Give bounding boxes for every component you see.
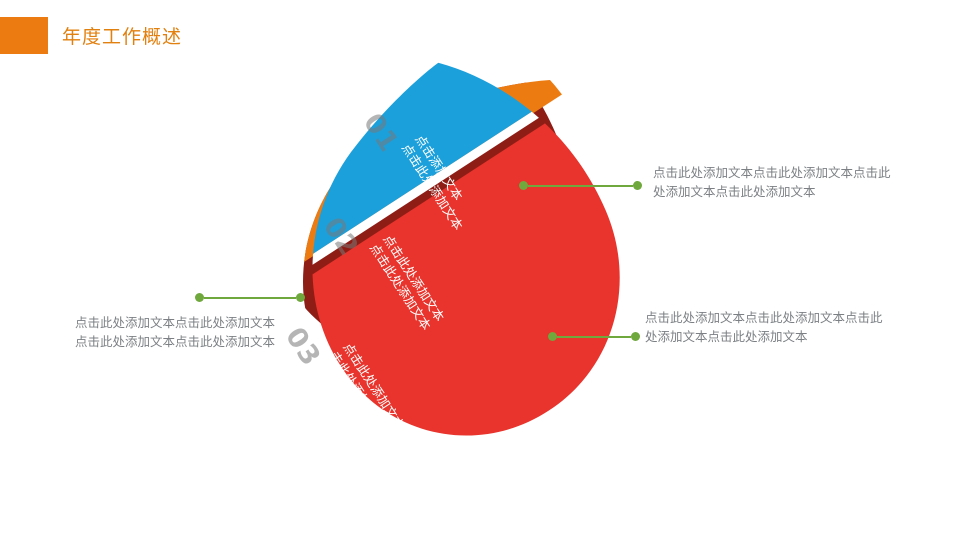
connector-dot-icon (633, 181, 642, 190)
connector-dot-icon (519, 181, 528, 190)
callout-text-left-1: 点击此处添加文本点击此处添加文本点击此处添加文本点击此处添加文本 (75, 313, 280, 351)
callout-text-right-2: 点击此处添加文本点击此处添加文本点击此处添加文本点击此处添加文本 (645, 308, 889, 346)
callout-text-right-1: 点击此处添加文本点击此处添加文本点击此处添加文本点击此处添加文本 (653, 163, 897, 201)
connector-dot-icon (631, 332, 640, 341)
title-accent-swatch (0, 17, 48, 54)
connector-dot-icon (195, 293, 204, 302)
connector-line-01 (519, 180, 642, 191)
page-title: 年度工作概述 (62, 22, 182, 49)
connector-line-03 (195, 292, 305, 303)
connector-stroke (204, 297, 296, 299)
slide-title-bar: 年度工作概述 (0, 17, 182, 54)
connector-stroke (557, 336, 631, 338)
connector-dot-icon (548, 332, 557, 341)
connector-stroke (528, 185, 633, 187)
teardrop-svg (265, 60, 665, 460)
teardrop-diagram: 01 点击添加文本 点击此处添加文本 02 点击此处添加文本 点击此处添加文本 … (265, 60, 665, 460)
connector-dot-icon (296, 293, 305, 302)
connector-line-02 (548, 331, 640, 342)
